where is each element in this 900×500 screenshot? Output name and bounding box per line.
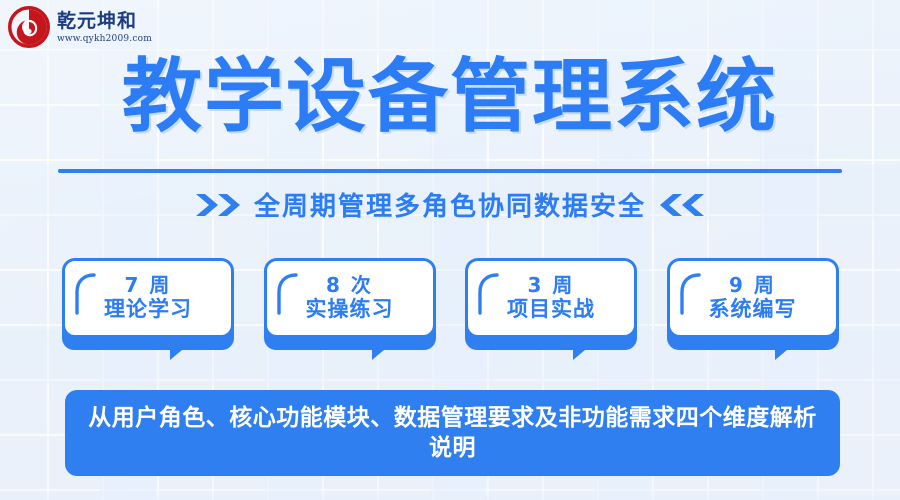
card-body[interactable]: 7 周 理论学习 (62, 258, 234, 338)
brand-text: 乾元坤和 www.qykh2009.com (57, 10, 152, 44)
stat-card-list: 7 周 理论学习 8 次 实操练习 (62, 258, 838, 358)
card-body[interactable]: 8 次 实操练习 (264, 258, 436, 338)
quote-arc-icon (679, 272, 701, 321)
brand-logo[interactable]: 乾元坤和 www.qykh2009.com (8, 6, 152, 48)
card-body[interactable]: 3 周 项目实战 (465, 258, 637, 338)
card-number: 8 次 (326, 274, 373, 297)
card-body[interactable]: 9 周 系统编写 (667, 258, 839, 338)
card-label: 项目实战 (507, 297, 595, 321)
subtitle-row: 全周期管理多角色协同数据安全 (0, 186, 900, 223)
poster-canvas: 乾元坤和 www.qykh2009.com 教学设备管理系统 全周期管理多角色协… (0, 0, 900, 500)
quote-arc-icon (276, 272, 298, 321)
double-chevron-right-icon (194, 192, 242, 218)
card-label: 系统编写 (709, 297, 797, 321)
summary-banner: 从用户角色、核心功能模块、数据管理要求及非功能需求四个维度解析说明 (65, 390, 840, 476)
quote-arc-icon (74, 272, 96, 321)
card-number: 7 周 (125, 274, 172, 297)
quote-arc-icon (477, 272, 499, 321)
subtitle-text: 全周期管理多角色协同数据安全 (254, 186, 646, 223)
brand-name: 乾元坤和 (57, 12, 152, 31)
brand-url: www.qykh2009.com (57, 35, 152, 44)
stat-card[interactable]: 7 周 理论学习 (62, 258, 234, 358)
double-chevron-left-icon (658, 192, 706, 218)
title-divider (58, 169, 842, 173)
stat-card[interactable]: 3 周 项目实战 (465, 258, 637, 358)
summary-banner-text: 从用户角色、核心功能模块、数据管理要求及非功能需求四个维度解析说明 (83, 403, 822, 464)
card-label: 理论学习 (104, 297, 192, 321)
card-number: 9 周 (729, 274, 776, 297)
red-swirl-logo-icon (8, 6, 50, 48)
stat-card[interactable]: 8 次 实操练习 (264, 258, 436, 358)
card-label: 实操练习 (306, 297, 394, 321)
card-number: 3 周 (528, 274, 575, 297)
page-title: 教学设备管理系统 (0, 57, 900, 137)
stat-card[interactable]: 9 周 系统编写 (667, 258, 839, 358)
